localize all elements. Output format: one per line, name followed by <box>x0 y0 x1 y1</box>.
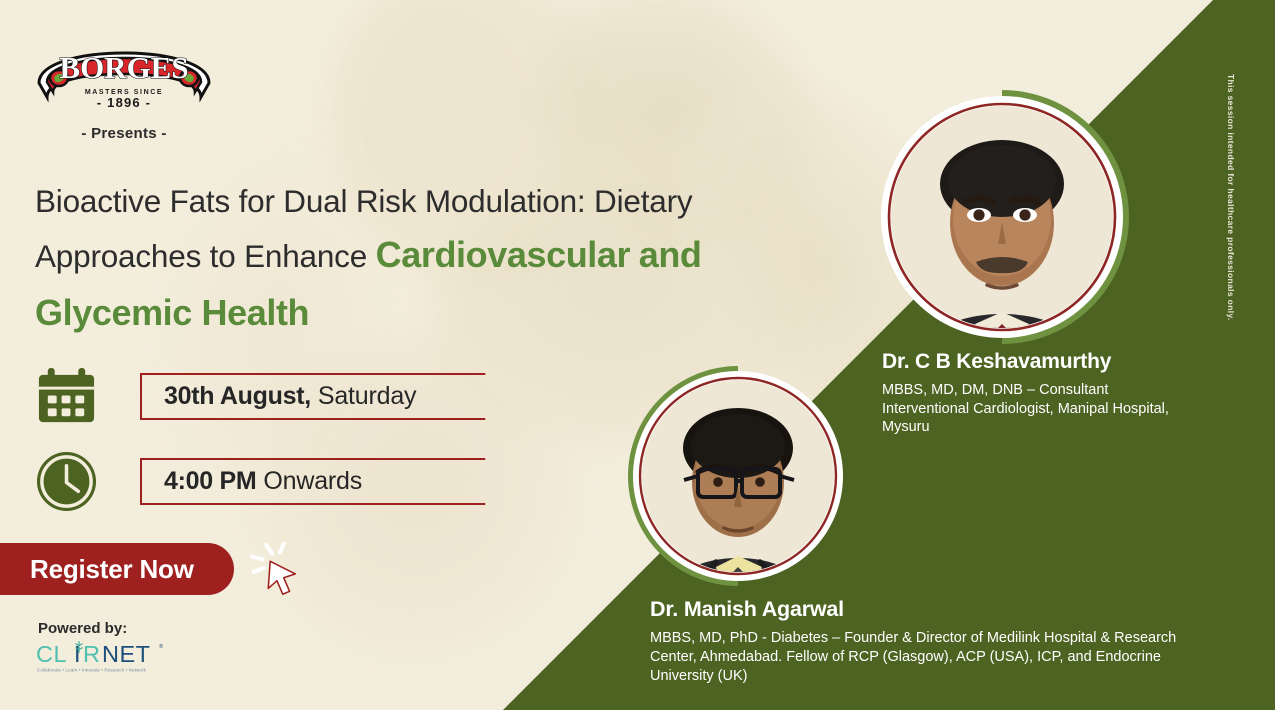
speaker-2-name: Dr. Manish Agarwal <box>650 597 1190 622</box>
event-date-row: 30th August, Saturday <box>35 365 485 428</box>
register-now-button[interactable]: Register Now <box>0 543 234 595</box>
event-time-suffix: Onwards <box>263 467 362 496</box>
healthcare-disclaimer: This session intended for healthcare pro… <box>1226 74 1236 321</box>
event-date-bar: 30th August, Saturday <box>140 373 485 420</box>
webinar-banner: This session intended for healthcare pro… <box>0 0 1275 710</box>
speaker-1-info: Dr. C B Keshavamurthy MBBS, MD, DM, DNB … <box>882 350 1182 437</box>
svg-text:NET: NET <box>102 641 151 667</box>
event-time-bar: 4:00 PM Onwards <box>140 458 485 505</box>
clock-icon <box>35 450 98 513</box>
event-date-weekday: Saturday <box>318 382 416 411</box>
svg-text:R: R <box>83 641 100 667</box>
headline-line-1: Bioactive Fats for Dual Risk Modulation:… <box>35 183 692 219</box>
borges-logo: BORGES MASTERS SINCE - 1896 - - Presents… <box>31 25 217 142</box>
clirnet-logo: CL I R NET ® Collaborate • Learn • Innov… <box>36 640 181 675</box>
register-now-label: Register Now <box>30 554 194 585</box>
speaker-2-photo <box>624 362 852 590</box>
presents-label: - Presents - <box>31 125 217 142</box>
calendar-icon <box>35 365 98 428</box>
speaker-2-info: Dr. Manish Agarwal MBBS, MD, PhD - Diabe… <box>650 597 1190 686</box>
click-cursor-icon <box>245 540 307 602</box>
powered-by-label: Powered by: <box>38 620 127 637</box>
logo-year: - 1896 - <box>97 95 151 109</box>
speaker-1-credentials: MBBS, MD, DM, DNB – Consultant Intervent… <box>882 381 1182 437</box>
headline-line-2: Approaches to Enhance <box>35 238 367 274</box>
headline-highlight-1: Cardiovascular <box>376 234 631 275</box>
svg-text:CL: CL <box>36 641 67 667</box>
speaker-2-credentials: MBBS, MD, PhD - Diabetes – Founder & Dir… <box>650 629 1190 686</box>
svg-text:BORGES: BORGES <box>59 50 188 85</box>
event-time-row: 4:00 PM Onwards <box>35 450 485 513</box>
clirnet-tagline: Collaborate • Learn • Innovate • Researc… <box>37 668 147 673</box>
borges-logo-icon: BORGES MASTERS SINCE - 1896 - <box>31 25 217 109</box>
speaker-1-name: Dr. C B Keshavamurthy <box>882 350 1182 374</box>
page-title: Bioactive Fats for Dual Risk Modulation:… <box>35 176 795 342</box>
event-date-main: 30th August, <box>164 382 311 411</box>
event-time-main: 4:00 PM <box>164 467 256 496</box>
svg-text:®: ® <box>159 643 163 650</box>
speaker-1-photo <box>871 86 1133 348</box>
